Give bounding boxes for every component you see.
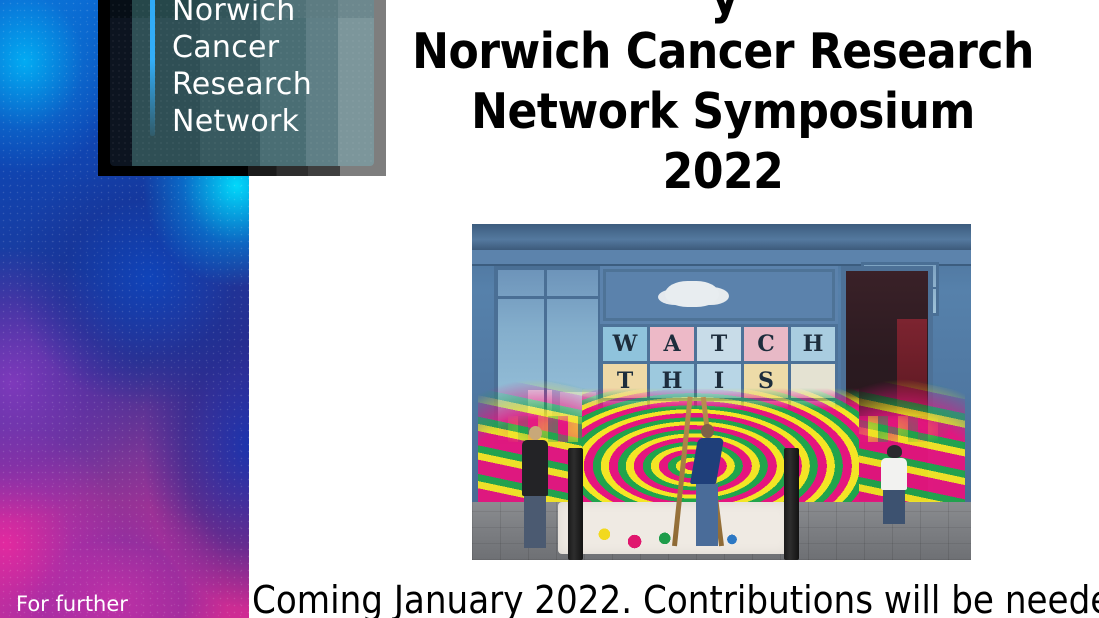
mural-letter: A: [650, 327, 694, 361]
title-line-2: Network Symposium: [380, 82, 1066, 142]
for-further-text: For further: [16, 592, 128, 616]
shopfront-mural-photo: W A T C H T H I S S P A C E: [472, 224, 971, 560]
person-body: [690, 438, 724, 484]
mural-letter: W: [603, 327, 647, 361]
person-body: [522, 440, 548, 496]
logo-block: Norwich Cancer Research Network: [98, 0, 386, 176]
person-seated-right: [881, 445, 907, 524]
person-legs: [696, 484, 718, 546]
person-painter-left: [522, 426, 548, 548]
presentation-slide: For further y Norwich Cancer Research Ne…: [0, 0, 1099, 618]
person-painter-middle: [694, 424, 720, 546]
mural-letter: C: [744, 327, 788, 361]
mural-letter: H: [791, 327, 835, 361]
shop-fascia: [472, 224, 971, 252]
person-body: [881, 458, 907, 490]
person-head: [701, 424, 714, 438]
logo-accent-stripe-icon: [150, 0, 155, 136]
slide-caption: Coming January 2022. Contributions will …: [252, 578, 1092, 618]
bollard-right: [784, 448, 799, 560]
logo-line-3: Research: [172, 66, 312, 103]
title-line-1: Norwich Cancer Research: [380, 22, 1066, 82]
bollard-left: [568, 448, 583, 560]
logo-line-4: Network: [172, 103, 312, 140]
person-head: [887, 445, 902, 458]
title-line-3: 2022: [380, 142, 1066, 202]
logo-line-1: Norwich: [172, 0, 312, 29]
upper-sign-panel: [600, 266, 838, 324]
logo-wordmark: Norwich Cancer Research Network: [172, 0, 312, 140]
page-title: Norwich Cancer Research Network Symposiu…: [380, 22, 1066, 202]
mural-letter: T: [697, 327, 741, 361]
person-legs: [883, 490, 905, 524]
person-legs: [524, 496, 546, 548]
cloud-icon: [665, 281, 719, 307]
logo-line-2: Cancer: [172, 29, 312, 66]
person-head: [529, 426, 542, 440]
